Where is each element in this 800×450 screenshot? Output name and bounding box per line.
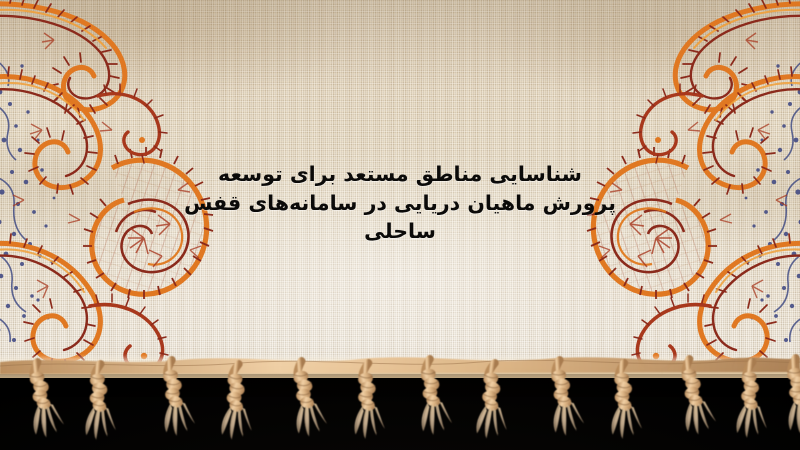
title-line-2: پرورش ماهیان دریایی در سامانه‌های قفس (170, 189, 630, 218)
title-line-1: شناسایی مناطق مستعد برای توسعه (170, 160, 630, 189)
slide-canvas: شناسایی مناطق مستعد برای توسعه پرورش ماه… (0, 0, 800, 450)
cloth-bottom-selvedge (0, 354, 800, 374)
slide-title: شناسایی مناطق مستعد برای توسعه پرورش ماه… (170, 160, 630, 246)
title-line-3: ساحلی (170, 217, 630, 246)
